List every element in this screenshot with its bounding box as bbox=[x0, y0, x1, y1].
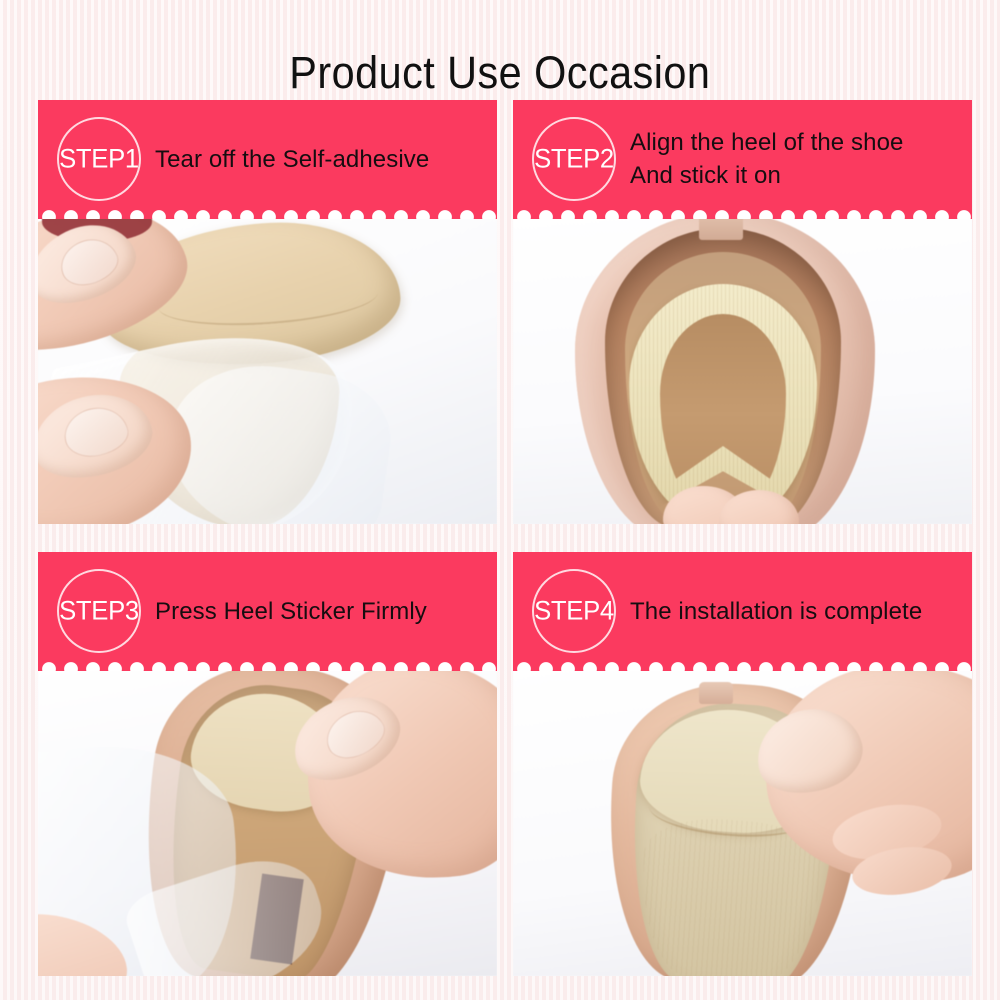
page-title: Product Use Occasion bbox=[289, 44, 710, 102]
step-photo-4 bbox=[513, 670, 972, 976]
step-photo-1 bbox=[38, 218, 497, 524]
step-badge-4: STEP4 bbox=[532, 569, 616, 653]
step-badge-1: STEP1 bbox=[57, 117, 141, 201]
step-caption-1: Tear off the Self-adhesive bbox=[155, 143, 429, 176]
step-caption-line: Tear off the Self-adhesive bbox=[155, 143, 429, 176]
product-use-occasion-infographic: Product Use Occasion STEP1 Tear off the … bbox=[0, 0, 1000, 1000]
step-panel-3: STEP3 Press Heel Sticker Firmly bbox=[38, 552, 497, 976]
step-panel-2: STEP2 Align the heel of the shoe And sti… bbox=[513, 100, 972, 524]
shoe-heel-tab bbox=[699, 682, 733, 704]
step-banner-4: STEP4 The installation is complete bbox=[513, 552, 972, 670]
step-panel-4: STEP4 The installation is complete bbox=[513, 552, 972, 976]
step-banner-2: STEP2 Align the heel of the shoe And sti… bbox=[513, 100, 972, 218]
step-caption-line: And stick it on bbox=[630, 159, 903, 192]
step-banner-3: STEP3 Press Heel Sticker Firmly bbox=[38, 552, 497, 670]
step-caption-line: Align the heel of the shoe bbox=[630, 126, 903, 159]
step-caption-4: The installation is complete bbox=[630, 595, 922, 628]
scallop-edge-icon bbox=[513, 206, 972, 219]
step-caption-3: Press Heel Sticker Firmly bbox=[155, 595, 427, 628]
step-badge-2: STEP2 bbox=[532, 117, 616, 201]
scallop-edge-icon bbox=[513, 658, 972, 671]
step-caption-2: Align the heel of the shoe And stick it … bbox=[630, 126, 903, 192]
step-badge-label: STEP1 bbox=[59, 146, 139, 173]
step-photo-3 bbox=[38, 670, 497, 976]
step-panel-1: STEP1 Tear off the Self-adhesive bbox=[38, 100, 497, 524]
scallop-edge-icon bbox=[38, 206, 497, 219]
step-photo-2 bbox=[513, 218, 972, 524]
photo-scene-installation-complete bbox=[513, 670, 972, 976]
photo-scene-align-heel bbox=[513, 218, 972, 524]
step-banner-1: STEP1 Tear off the Self-adhesive bbox=[38, 100, 497, 218]
scallop-edge-icon bbox=[38, 658, 497, 671]
steps-grid: STEP1 Tear off the Self-adhesive bbox=[38, 100, 972, 976]
step-badge-3: STEP3 bbox=[57, 569, 141, 653]
step-caption-line: The installation is complete bbox=[630, 595, 922, 628]
photo-scene-peel-film bbox=[38, 218, 497, 524]
step-badge-label: STEP4 bbox=[534, 598, 614, 625]
shoe-heel-tab bbox=[699, 218, 743, 240]
step-caption-line: Press Heel Sticker Firmly bbox=[155, 595, 427, 628]
photo-scene-press-sticker bbox=[38, 670, 497, 976]
step-badge-label: STEP3 bbox=[59, 598, 139, 625]
step-badge-label: STEP2 bbox=[534, 146, 614, 173]
